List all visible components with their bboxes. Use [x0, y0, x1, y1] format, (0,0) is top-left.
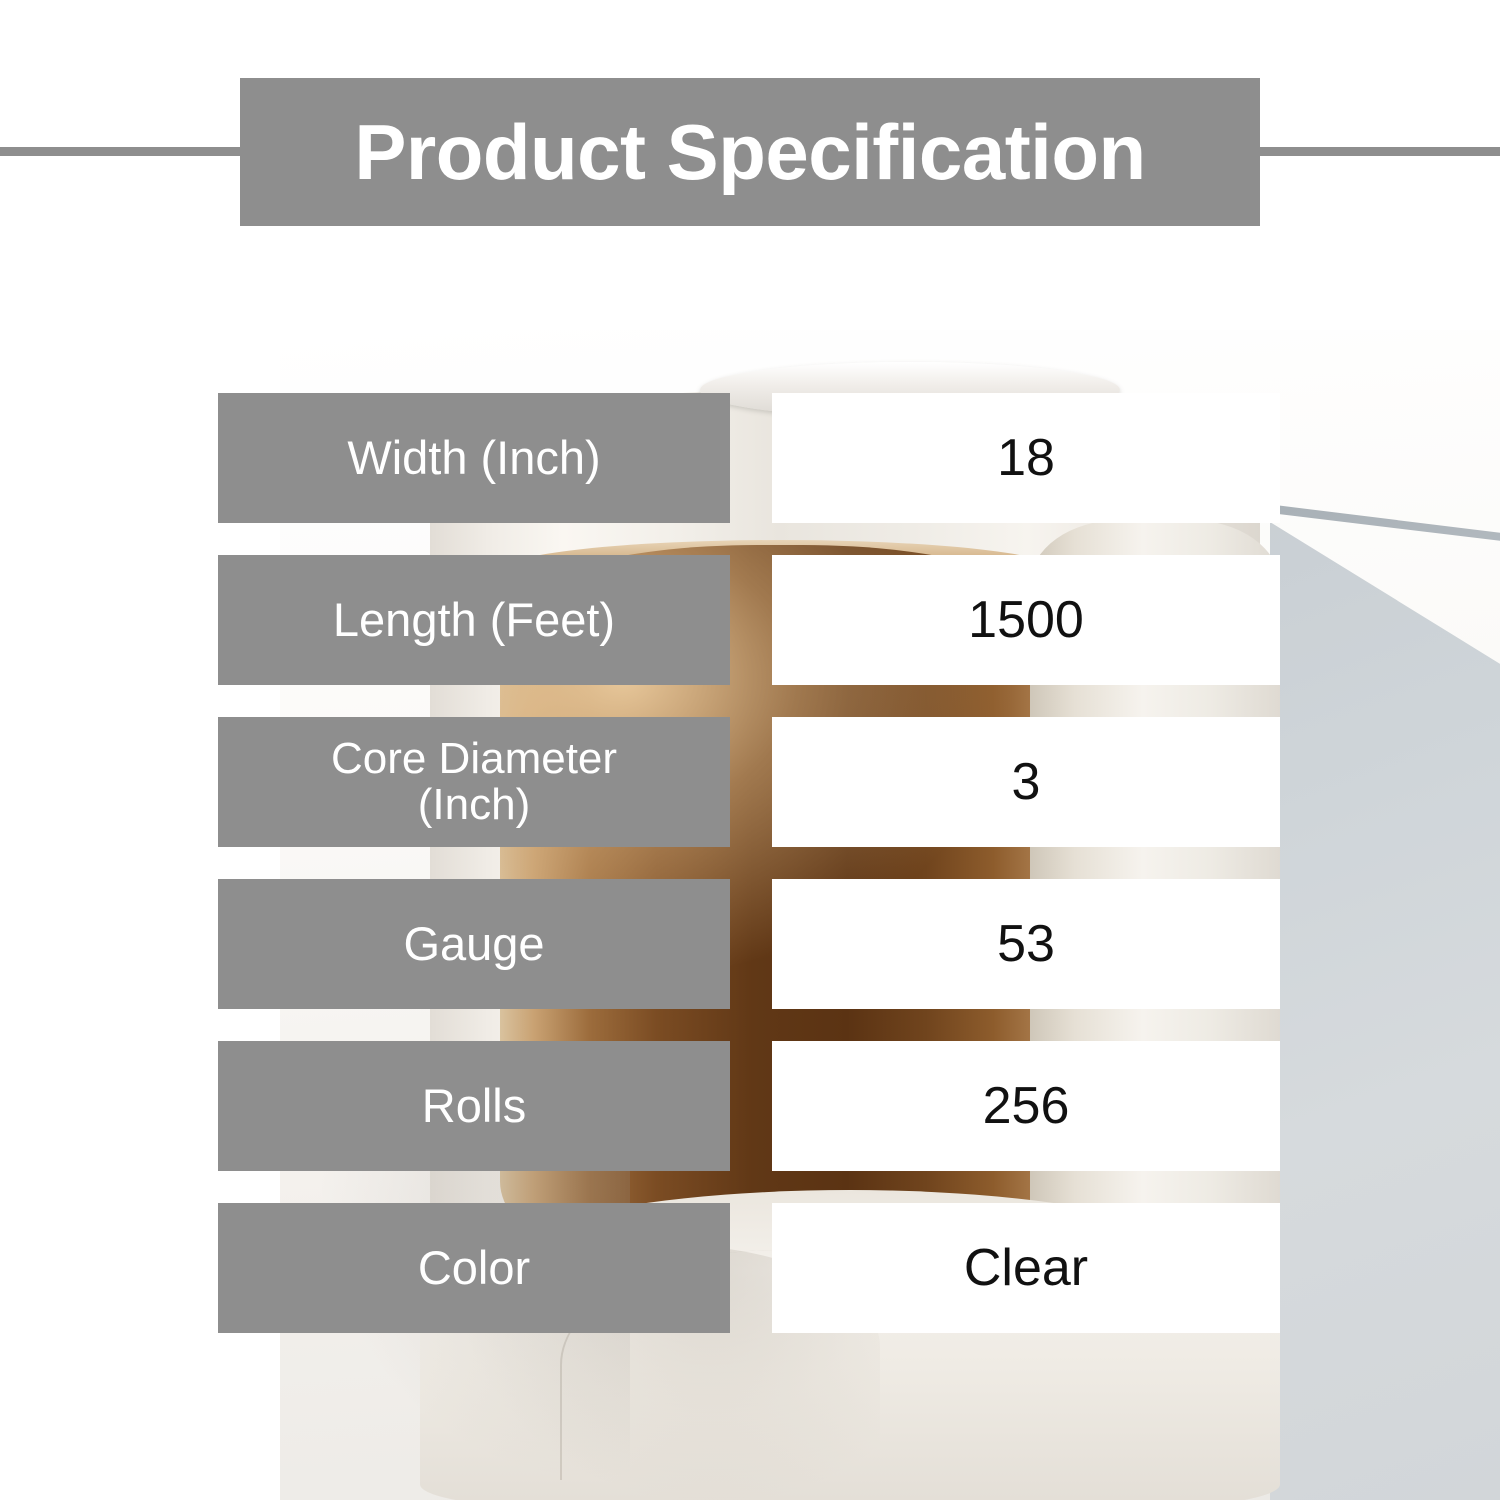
- spec-value-cell-width-inch: 18: [772, 393, 1280, 523]
- spec-value-text-color: Clear: [964, 1242, 1088, 1294]
- spec-value-text-gauge: 53: [997, 918, 1055, 970]
- spec-label-text-color: Color: [418, 1243, 530, 1292]
- spec-row-length-feet: Length (Feet)1500: [0, 555, 1500, 685]
- spec-row-rolls: Rolls256: [0, 1041, 1500, 1171]
- spec-row-color: ColorClear: [0, 1203, 1500, 1333]
- spec-value-cell-color: Clear: [772, 1203, 1280, 1333]
- spec-label-cell-rolls: Rolls: [218, 1041, 730, 1171]
- spec-label-cell-length-feet: Length (Feet): [218, 555, 730, 685]
- spec-value-cell-length-feet: 1500: [772, 555, 1280, 685]
- spec-label-text-gauge: Gauge: [403, 919, 544, 968]
- spec-label-cell-width-inch: Width (Inch): [218, 393, 730, 523]
- spec-label-text-core-diameter-inch: Core Diameter (Inch): [331, 736, 617, 828]
- spec-value-text-length-feet: 1500: [968, 594, 1084, 646]
- spec-value-cell-rolls: 256: [772, 1041, 1280, 1171]
- spec-label-text-width-inch: Width (Inch): [347, 433, 600, 482]
- spec-row-core-diameter-inch: Core Diameter (Inch)3: [0, 717, 1500, 847]
- spec-label-cell-color: Color: [218, 1203, 730, 1333]
- product-specification-infographic: Product Specification Width (Inch)18Leng…: [0, 0, 1500, 1500]
- spec-label-cell-core-diameter-inch: Core Diameter (Inch): [218, 717, 730, 847]
- spec-row-gauge: Gauge53: [0, 879, 1500, 1009]
- spec-label-text-rolls: Rolls: [422, 1081, 526, 1130]
- spec-value-text-rolls: 256: [983, 1080, 1070, 1132]
- spec-label-text-length-feet: Length (Feet): [333, 595, 615, 644]
- spec-value-cell-gauge: 53: [772, 879, 1280, 1009]
- spec-value-text-width-inch: 18: [997, 432, 1055, 484]
- spec-value-cell-core-diameter-inch: 3: [772, 717, 1280, 847]
- spec-row-width-inch: Width (Inch)18: [0, 393, 1500, 523]
- specification-table: Width (Inch)18Length (Feet)1500Core Diam…: [0, 0, 1500, 1500]
- spec-value-text-core-diameter-inch: 3: [1012, 756, 1041, 808]
- spec-label-cell-gauge: Gauge: [218, 879, 730, 1009]
